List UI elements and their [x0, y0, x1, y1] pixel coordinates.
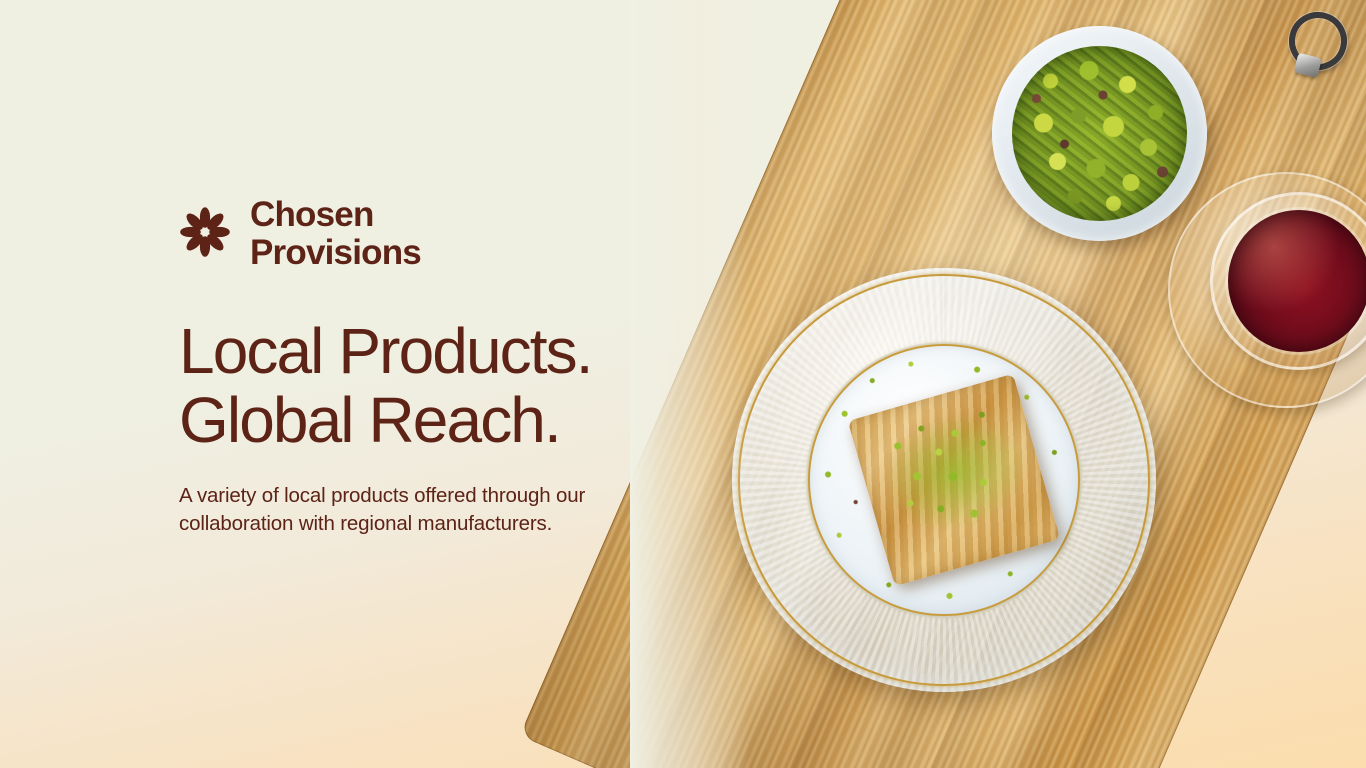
- eight-petal-flower-icon: [179, 206, 231, 258]
- hero-content: Chosen Provisions Local Products. Global…: [179, 196, 699, 539]
- brand-logo[interactable]: Chosen Provisions: [179, 196, 699, 272]
- page-title: Local Products. Global Reach.: [179, 317, 699, 455]
- chopped-pistachios: [1012, 46, 1187, 221]
- hero-photograph: [676, 0, 1366, 768]
- brand-name: Chosen Provisions: [250, 196, 421, 272]
- hero-banner: Chosen Provisions Local Products. Global…: [0, 0, 1366, 768]
- hero-subcopy: A variety of local products offered thro…: [179, 482, 669, 539]
- red-tea-liquid: [1228, 210, 1366, 352]
